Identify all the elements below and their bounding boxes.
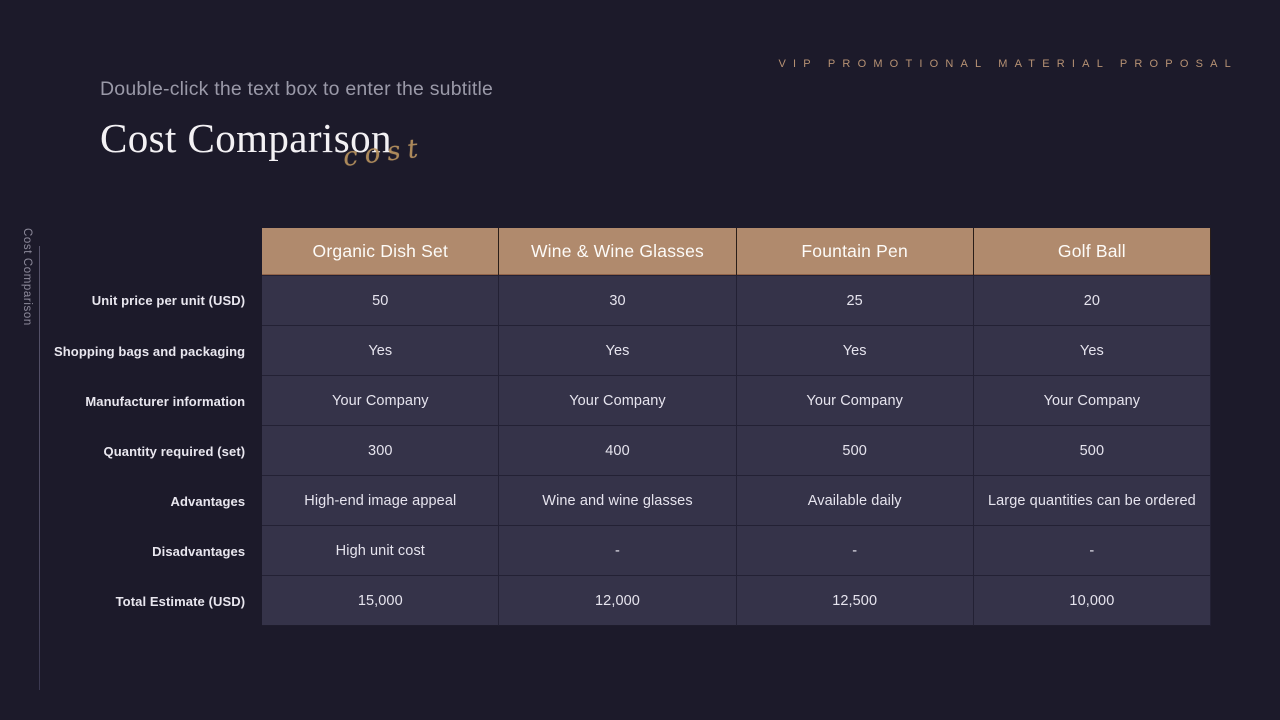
cell-r1-c0[interactable]: Yes — [262, 326, 499, 376]
cell-r2-c1[interactable]: Your Company — [499, 376, 736, 426]
table-row: Disadvantages High unit cost - - - — [12, 526, 1211, 576]
slide-subtitle[interactable]: Double-click the text box to enter the s… — [100, 78, 493, 101]
table-row: Quantity required (set) 300 400 500 500 — [12, 426, 1211, 476]
cell-r6-c3[interactable]: 10,000 — [974, 576, 1211, 626]
table-corner-cell — [12, 228, 262, 275]
comparison-table-container: Organic Dish Set Wine & Wine Glasses Fou… — [12, 228, 1212, 626]
column-header-1[interactable]: Organic Dish Set — [262, 228, 499, 275]
row-label-shopping-bags: Shopping bags and packaging — [12, 326, 262, 376]
table-row: Total Estimate (USD) 15,000 12,000 12,50… — [12, 576, 1211, 626]
table-row: Manufacturer information Your Company Yo… — [12, 376, 1211, 426]
row-label-manufacturer: Manufacturer information — [12, 376, 262, 426]
table-header-row: Organic Dish Set Wine & Wine Glasses Fou… — [12, 228, 1211, 275]
cell-r4-c1[interactable]: Wine and wine glasses — [499, 476, 736, 526]
row-label-unit-price: Unit price per unit (USD) — [12, 275, 262, 326]
cell-r0-c2[interactable]: 25 — [737, 275, 974, 326]
table-row: Unit price per unit (USD) 50 30 25 20 — [12, 275, 1211, 326]
cell-r3-c0[interactable]: 300 — [262, 426, 499, 476]
cell-r3-c3[interactable]: 500 — [974, 426, 1211, 476]
cell-r2-c0[interactable]: Your Company — [262, 376, 499, 426]
cost-comparison-table: Organic Dish Set Wine & Wine Glasses Fou… — [12, 228, 1211, 626]
cell-r6-c0[interactable]: 15,000 — [262, 576, 499, 626]
table-header: Organic Dish Set Wine & Wine Glasses Fou… — [12, 228, 1211, 275]
row-label-quantity: Quantity required (set) — [12, 426, 262, 476]
cell-r6-c2[interactable]: 12,500 — [737, 576, 974, 626]
cell-r5-c3[interactable]: - — [974, 526, 1211, 576]
cell-r5-c2[interactable]: - — [737, 526, 974, 576]
cell-r4-c2[interactable]: Available daily — [737, 476, 974, 526]
column-header-2[interactable]: Wine & Wine Glasses — [499, 228, 736, 275]
cell-r0-c1[interactable]: 30 — [499, 275, 736, 326]
cell-r3-c2[interactable]: 500 — [737, 426, 974, 476]
row-label-advantages: Advantages — [12, 476, 262, 526]
cell-r3-c1[interactable]: 400 — [499, 426, 736, 476]
slide-title-group[interactable]: Cost Comparison cost — [100, 118, 392, 159]
cell-r1-c3[interactable]: Yes — [974, 326, 1211, 376]
cell-r5-c0[interactable]: High unit cost — [262, 526, 499, 576]
cell-r4-c3[interactable]: Large quantities can be ordered — [974, 476, 1211, 526]
column-header-4[interactable]: Golf Ball — [974, 228, 1211, 275]
cell-r1-c2[interactable]: Yes — [737, 326, 974, 376]
cell-r0-c0[interactable]: 50 — [262, 275, 499, 326]
cell-r5-c1[interactable]: - — [499, 526, 736, 576]
table-row: Advantages High-end image appeal Wine an… — [12, 476, 1211, 526]
row-label-total-estimate: Total Estimate (USD) — [12, 576, 262, 626]
cell-r0-c3[interactable]: 20 — [974, 275, 1211, 326]
cell-r2-c3[interactable]: Your Company — [974, 376, 1211, 426]
column-header-3[interactable]: Fountain Pen — [737, 228, 974, 275]
table-row: Shopping bags and packaging Yes Yes Yes … — [12, 326, 1211, 376]
cell-r6-c1[interactable]: 12,000 — [499, 576, 736, 626]
cell-r4-c0[interactable]: High-end image appeal — [262, 476, 499, 526]
eyebrow-label: VIP PROMOTIONAL MATERIAL PROPOSAL — [779, 58, 1239, 70]
cell-r2-c2[interactable]: Your Company — [737, 376, 974, 426]
row-label-disadvantages: Disadvantages — [12, 526, 262, 576]
table-body: Unit price per unit (USD) 50 30 25 20 Sh… — [12, 275, 1211, 626]
cell-r1-c1[interactable]: Yes — [499, 326, 736, 376]
